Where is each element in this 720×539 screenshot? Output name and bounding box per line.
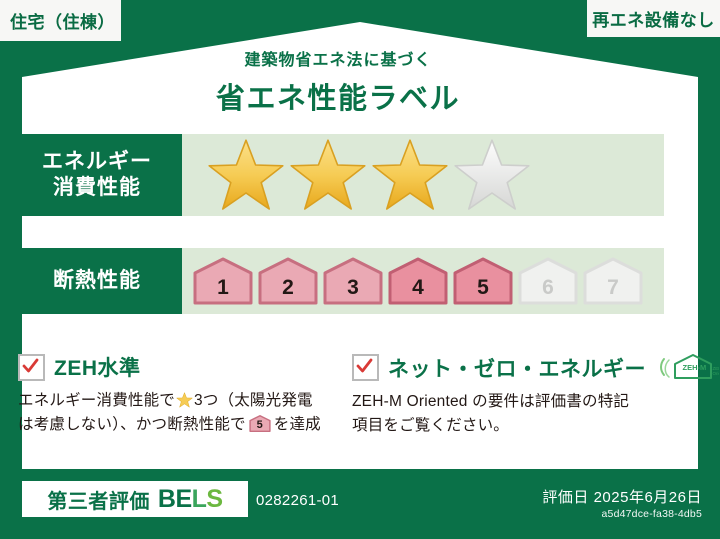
- energy-label-line1: エネルギー: [42, 149, 152, 175]
- insulation-performance-value: 1 2 3 4 5: [182, 248, 664, 314]
- label-canvas: 住宅（住棟） 再エネ設備なし 建築物省エネ法に基づく 省エネ性能ラベル エネルギ…: [0, 0, 720, 539]
- insulation-grade-number: 6: [517, 276, 579, 300]
- bels-logo: BELS: [158, 487, 223, 512]
- insulation-grade-scale: 1 2 3 4 5: [182, 257, 644, 305]
- bels-logo-e: E: [175, 485, 191, 513]
- check-icon: [22, 358, 39, 375]
- check-icon: [356, 358, 373, 375]
- zeh-desc-part2: は考慮しない）、かつ断熱性能で: [18, 416, 246, 433]
- energy-performance-value: [182, 134, 664, 216]
- insulation-grade-number: 4: [387, 276, 449, 300]
- zeh-desc-part1: エネルギー消費性能で: [18, 392, 175, 409]
- page-title: 建築物省エネ法に基づく 省エネ性能ラベル: [0, 46, 676, 117]
- criterion-nzeb-header: ネット・ゼロ・エネルギー ZEH-M ZEH-M Oriented: [352, 352, 670, 383]
- nzeb-checkbox[interactable]: [352, 354, 379, 381]
- energy-label-line2: 消費性能: [53, 175, 141, 201]
- zeh-title: ZEH水準: [54, 352, 141, 382]
- insulation-grade-number: 5: [452, 276, 514, 300]
- title-mainline: 省エネ性能ラベル: [0, 75, 676, 117]
- zeh-checkbox[interactable]: [18, 354, 45, 381]
- nzeb-desc-line2: 項目をご覧ください。: [352, 417, 509, 434]
- svg-text:ZEH-M: ZEH-M: [713, 366, 720, 371]
- insulation-grade-number: 2: [257, 276, 319, 300]
- insulation-grade-2: 2: [257, 257, 319, 305]
- insulation-grade-number: 1: [192, 276, 254, 300]
- insulation-grade-number: 3: [322, 276, 384, 300]
- inline-star-icon: [176, 392, 193, 408]
- zeh-desc-part3: を達成: [274, 416, 321, 433]
- insulation-grade-3: 3: [322, 257, 384, 305]
- svg-text:ZEH-M: ZEH-M: [683, 363, 707, 372]
- star-rating: [182, 137, 532, 213]
- star-filled-icon: [370, 137, 450, 213]
- nzeb-title: ネット・ゼロ・エネルギー: [388, 353, 646, 383]
- zeh-description: エネルギー消費性能で3つ（太陽光発電 は考慮しない）、かつ断熱性能で5を達成: [18, 389, 336, 438]
- criterion-zeh-header: ZEH水準: [18, 352, 336, 382]
- badge-renewable-status: 再エネ設備なし: [587, 0, 720, 37]
- star-empty-icon: [452, 137, 532, 213]
- criterion-nzeb: ネット・ゼロ・エネルギー ZEH-M ZEH-M Oriented ZEH-M …: [352, 352, 670, 439]
- zeh-m-logo-icon: ZEH-M ZEH-M Oriented: [659, 352, 719, 383]
- badge-building-type: 住宅（住棟）: [0, 0, 121, 41]
- nzeb-description: ZEH-M Oriented の要件は評価書の特記 項目をご覧ください。: [352, 390, 670, 439]
- title-subline: 建築物省エネ法に基づく: [0, 46, 676, 70]
- inline-grade-number: 5: [249, 420, 271, 431]
- star-filled-icon: [206, 137, 286, 213]
- bels-logo-s: S: [206, 485, 222, 513]
- energy-performance-label: エネルギー 消費性能: [12, 134, 182, 216]
- svg-text:Oriented: Oriented: [713, 371, 720, 376]
- insulation-grade-1: 1: [192, 257, 254, 305]
- insulation-performance-label: 断熱性能: [12, 248, 182, 314]
- bels-logo-b: B: [158, 485, 176, 513]
- bels-logo-l: L: [192, 485, 207, 513]
- evaluation-date: 評価日 2025年6月26日: [542, 486, 702, 507]
- insulation-grade-number: 7: [582, 276, 644, 300]
- insulation-performance-row: 断熱性能 1 2 3 4: [12, 248, 664, 314]
- inline-grade-badge: 5: [249, 415, 271, 432]
- bels-number: 0282261-01: [256, 492, 339, 509]
- insulation-grade-6: 6: [517, 257, 579, 305]
- zeh-desc-star-count: 3つ（太陽光発電: [194, 392, 313, 409]
- third-party-label: 第三者評価: [47, 485, 150, 514]
- insulation-grade-7: 7: [582, 257, 644, 305]
- insulation-label-text: 断熱性能: [53, 268, 141, 294]
- criterion-zeh: ZEH水準 エネルギー消費性能で3つ（太陽光発電 は考慮しない）、かつ断熱性能で…: [18, 352, 336, 438]
- nzeb-desc-line1: ZEH-M Oriented の要件は評価書の特記: [352, 393, 629, 410]
- insulation-grade-4: 4: [387, 257, 449, 305]
- star-filled-icon: [288, 137, 368, 213]
- bels-plate: 第三者評価 BELS: [22, 481, 248, 517]
- energy-performance-row: エネルギー 消費性能: [12, 134, 664, 216]
- zeh-m-oriented-logo: ZEH-M ZEH-M Oriented: [659, 352, 719, 383]
- evaluation-hash: a5d47dce-fa38-4db5: [601, 508, 702, 520]
- insulation-grade-5: 5: [452, 257, 514, 305]
